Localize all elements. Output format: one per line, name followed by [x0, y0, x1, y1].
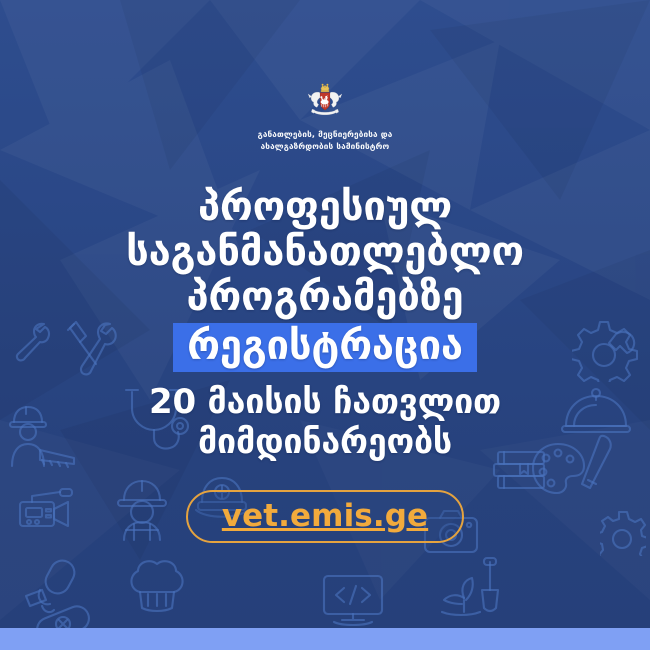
- subheadline-line-2: მიმდინარეობს: [149, 422, 501, 462]
- website-url-button[interactable]: vet.emis.ge: [186, 490, 464, 543]
- headline-line-1: პროფესიულ: [126, 185, 524, 230]
- poster-content: განათლების, მეცნიერებისა და ახალგაზრდობი…: [0, 0, 650, 650]
- ministry-name-line1: განათლების, მეცნიერებისა და: [258, 129, 393, 141]
- headline-line-3: პროგრამებზე: [126, 275, 524, 320]
- headline-line-2: საგანმანათლებლო: [126, 230, 524, 275]
- ministry-name-line2: ახალგაზრდობის სამინისტრო: [258, 141, 393, 153]
- headline-highlight-wrap: რეგისტრაცია: [126, 320, 524, 373]
- poster-canvas: განათლების, მეცნიერებისა და ახალგაზრდობი…: [0, 0, 650, 650]
- page-title: პროფესიულ საგანმანათლებლო პროგრამებზე რე…: [126, 185, 524, 373]
- subheadline: 20 მაისის ჩათვლით მიმდინარეობს: [149, 382, 501, 462]
- headline-highlight: რეგისტრაცია: [173, 323, 477, 372]
- bottom-accent-bar: [0, 628, 650, 650]
- poster-header: განათლების, მეცნიერებისა და ახალგაზრდობი…: [258, 82, 393, 153]
- ministry-name: განათლების, მეცნიერებისა და ახალგაზრდობი…: [258, 129, 393, 153]
- georgian-coat-of-arms-icon: [305, 82, 345, 122]
- subheadline-line-1: 20 მაისის ჩათვლით: [149, 382, 501, 422]
